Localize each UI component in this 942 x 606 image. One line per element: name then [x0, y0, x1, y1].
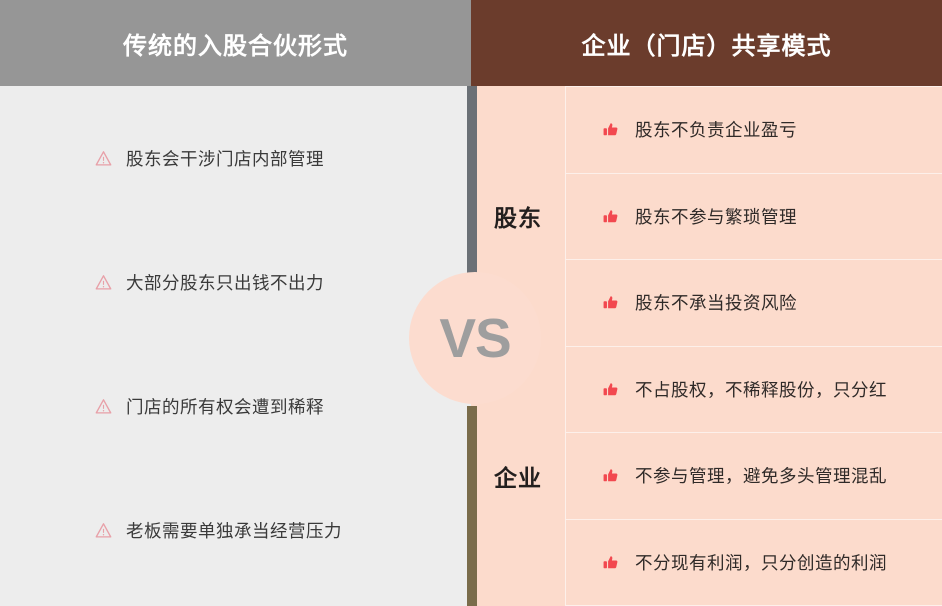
list-item-label: 股东不承当投资风险 [635, 290, 797, 315]
list-item-label: 不参与管理，避免多头管理混乱 [635, 463, 887, 488]
left-item-list: 股东会干涉门店内部管理 大部分股东只出钱不出力 [0, 86, 471, 606]
list-item[interactable]: 不占股权，不稀释股份，只分红 [565, 346, 942, 433]
list-item[interactable]: 大部分股东只出钱不出力 [0, 262, 471, 302]
list-item-label: 门店的所有权会遭到稀释 [126, 394, 324, 419]
list-item-label: 不分现有利润，只分创造的利润 [635, 550, 887, 575]
warning-triangle-icon [95, 274, 112, 291]
side-label-text: 企业 [494, 459, 542, 493]
list-item-label: 股东不参与繁琐管理 [635, 204, 797, 229]
list-item[interactable]: 不参与管理，避免多头管理混乱 [565, 432, 942, 519]
thumbs-up-icon [602, 294, 619, 311]
right-content-wrap: 股东 企业 股东不负责企业盈亏 [471, 86, 942, 606]
list-item-label: 大部分股东只出钱不出力 [126, 270, 324, 295]
warning-triangle-icon [95, 398, 112, 415]
right-column-header: 企业（门店）共享模式 [471, 0, 942, 86]
warning-triangle-icon [95, 522, 112, 539]
list-item[interactable]: 股东会干涉门店内部管理 [0, 138, 471, 178]
left-column-header: 传统的入股合伙形式 [0, 0, 471, 86]
warning-triangle-icon [95, 150, 112, 167]
center-divider-lower [467, 406, 477, 606]
thumbs-up-icon [602, 208, 619, 225]
side-label-text: 股东 [494, 199, 542, 233]
list-item[interactable]: 门店的所有权会遭到稀释 [0, 386, 471, 426]
right-column-body: 股东 企业 股东不负责企业盈亏 [471, 86, 942, 606]
left-column-body: 股东会干涉门店内部管理 大部分股东只出钱不出力 [0, 86, 471, 606]
right-card-list: 股东不负责企业盈亏 股东不参与繁琐管理 [565, 86, 942, 606]
center-divider-upper [467, 86, 477, 281]
list-item-label: 老板需要单独承当经营压力 [126, 518, 342, 543]
list-item[interactable]: 股东不参与繁琐管理 [565, 173, 942, 260]
right-column-title: 企业（门店）共享模式 [582, 26, 832, 61]
left-column-title: 传统的入股合伙形式 [123, 26, 348, 61]
left-column: 传统的入股合伙形式 股东会干涉门店内部管理 [0, 0, 471, 606]
vs-label: VS [439, 311, 510, 366]
list-item-label: 股东会干涉门店内部管理 [126, 146, 324, 171]
list-item[interactable]: 股东不承当投资风险 [565, 259, 942, 346]
thumbs-up-icon [602, 121, 619, 138]
list-item-label: 不占股权，不稀释股份，只分红 [635, 377, 887, 402]
right-column: 企业（门店）共享模式 股东 企业 [471, 0, 942, 606]
thumbs-up-icon [602, 467, 619, 484]
list-item[interactable]: 老板需要单独承当经营压力 [0, 510, 471, 550]
list-item-label: 股东不负责企业盈亏 [635, 117, 797, 142]
comparison-infographic: 传统的入股合伙形式 股东会干涉门店内部管理 [0, 0, 942, 606]
vs-badge: VS [409, 272, 541, 404]
list-item[interactable]: 股东不负责企业盈亏 [565, 86, 942, 173]
thumbs-up-icon [602, 381, 619, 398]
thumbs-up-icon [602, 554, 619, 571]
list-item[interactable]: 不分现有利润，只分创造的利润 [565, 519, 942, 606]
